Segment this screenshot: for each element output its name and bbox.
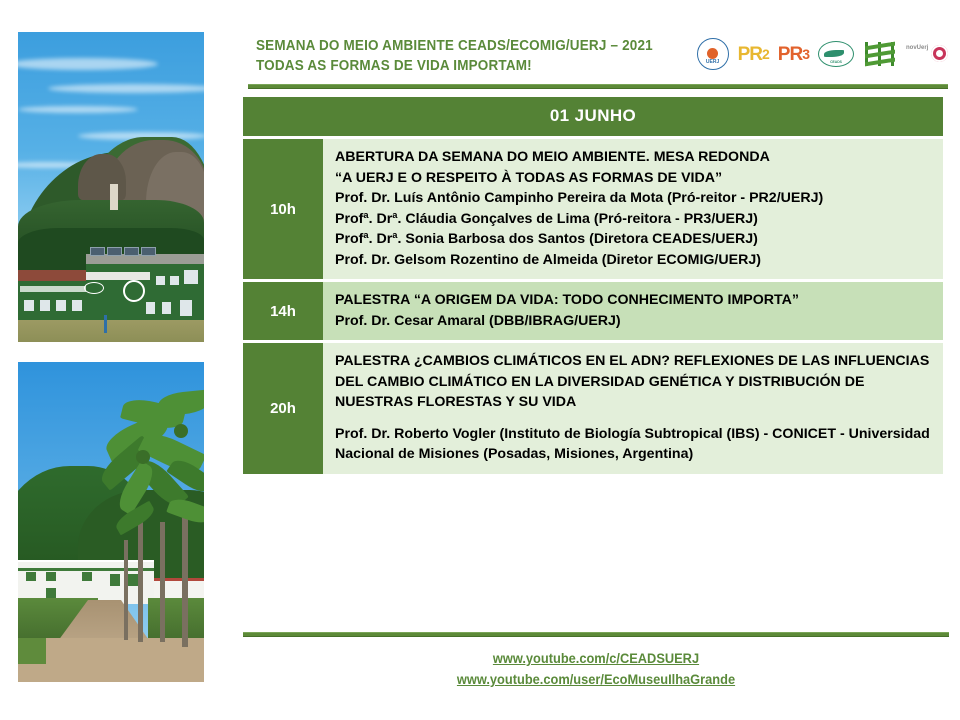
session-line: Profª. Drª. Cláudia Gonçalves de Lima (P…: [335, 209, 931, 230]
logo-strip: UERJ PR2 PR3 CEADS novUerj: [697, 36, 948, 72]
window: [170, 276, 179, 285]
building-emblem: [123, 280, 145, 302]
window: [24, 300, 34, 311]
session-cell: PALESTRA ¿CAMBIOS CLIMÁTICOS EN EL ADN? …: [323, 343, 943, 474]
fish-oval-logo: CEADS: [818, 41, 854, 67]
lawn: [148, 598, 204, 638]
fish-icon: [824, 50, 844, 57]
pole: [104, 315, 107, 333]
table-row: 20h PALESTRA ¿CAMBIOS CLIMÁTICOS EN EL A…: [243, 343, 943, 474]
palm-crown: [174, 424, 188, 438]
pr3-logo: PR3: [778, 39, 809, 69]
footer-links: www.youtube.com/c/CEADSUERJ www.youtube.…: [243, 648, 949, 690]
window: [56, 300, 66, 311]
schedule-table: 01 JUNHO 10h ABERTURA DA SEMANA DO MEIO …: [243, 97, 943, 474]
pr2-logo-superscript: 2: [762, 45, 769, 64]
window: [180, 300, 192, 316]
window: [162, 302, 171, 314]
table-row: 14h PALESTRA “A ORIGEM DA VIDA: TODO CON…: [243, 282, 943, 340]
session-cell: PALESTRA “A ORIGEM DA VIDA: TODO CONHECI…: [323, 282, 943, 340]
session-line: Profª. Drª. Sonia Barbosa dos Santos (Di…: [335, 229, 931, 250]
red-roof: [18, 270, 90, 281]
solar-panel: [141, 247, 156, 256]
palm-trunk: [182, 502, 188, 647]
session-line: Prof. Dr. Cesar Amaral (DBB/IBRAG/UERJ): [335, 311, 931, 332]
uerj-logo: UERJ: [697, 38, 729, 70]
pr2-logo-label: PR: [738, 45, 762, 64]
fish-logo-label: CEADS: [819, 60, 853, 64]
session-line: ABERTURA DA SEMANA DO MEIO AMBIENTE. MES…: [335, 147, 931, 168]
header-divider-rule: [248, 84, 948, 89]
time-cell: 10h: [243, 139, 323, 279]
photo-ceads-building: [18, 32, 204, 342]
photo-campus-palms: [18, 362, 204, 682]
novuerj-gear-logo: novUerj: [906, 41, 948, 67]
window: [82, 572, 92, 581]
solar-panel: [107, 247, 122, 256]
palm-trunk: [160, 522, 165, 642]
session-line: “A UERJ E O RESPEITO À TODAS AS FORMAS D…: [335, 168, 931, 189]
day-header: 01 JUNHO: [243, 97, 943, 136]
green-grid-logo: [863, 41, 897, 67]
pr3-logo-label: PR: [778, 45, 802, 64]
uerj-logo-label: UERJ: [706, 60, 719, 65]
window: [156, 276, 165, 285]
session-line: Prof. Dr. Roberto Vogler (Instituto de B…: [335, 424, 931, 465]
footer-divider-rule: [243, 632, 949, 637]
window: [46, 572, 56, 581]
palm-trunk: [124, 540, 128, 640]
window: [128, 574, 138, 586]
tower: [110, 184, 118, 210]
facade-band: [86, 272, 150, 280]
building-stripe: [18, 568, 154, 571]
palm-crown: [136, 450, 150, 464]
cloud-streak: [48, 84, 204, 93]
window: [110, 574, 120, 586]
palm-trunk: [138, 512, 143, 642]
table-row: 10h ABERTURA DA SEMANA DO MEIO AMBIENTE.…: [243, 139, 943, 279]
youtube-user-link[interactable]: www.youtube.com/user/EcoMuseuIlhaGrande: [261, 669, 932, 690]
session-line: Prof. Dr. Gelsom Rozentino de Almeida (D…: [335, 250, 931, 271]
pr3-logo-superscript: 3: [802, 45, 809, 64]
window: [40, 300, 50, 311]
building-emblem-oval: [84, 282, 104, 294]
window: [184, 270, 198, 284]
uerj-seal-burst-icon: [707, 48, 718, 59]
window: [26, 572, 36, 581]
session-line: Prof. Dr. Luís Antônio Campinho Pereira …: [335, 188, 931, 209]
session-cell: ABERTURA DA SEMANA DO MEIO AMBIENTE. MES…: [323, 139, 943, 279]
novuerj-logo-label: novUerj: [906, 46, 928, 52]
header-titles: SEMANA DO MEIO AMBIENTE CEADS/ECOMIG/UER…: [256, 36, 683, 76]
header-title-line2: TODAS AS FORMAS DE VIDA IMPORTAM!: [256, 56, 653, 76]
youtube-channel-link[interactable]: www.youtube.com/c/CEADSUERJ: [261, 648, 932, 669]
time-cell: 14h: [243, 282, 323, 340]
session-line: PALESTRA ¿CAMBIOS CLIMÁTICOS EN EL ADN? …: [335, 351, 931, 413]
window: [146, 302, 155, 314]
pr2-logo: PR2: [738, 39, 769, 69]
cloud-streak: [18, 106, 138, 113]
window: [72, 300, 82, 311]
gear-icon: [931, 45, 948, 62]
session-line: PALESTRA “A ORIGEM DA VIDA: TODO CONHECI…: [335, 290, 931, 311]
photo-column: [18, 32, 204, 682]
time-cell: 20h: [243, 343, 323, 474]
solar-panel: [90, 247, 105, 256]
poster-header: SEMANA DO MEIO AMBIENTE CEADS/ECOMIG/UER…: [248, 36, 948, 82]
ground: [18, 320, 204, 342]
rock-outcrop: [78, 154, 126, 200]
lawn-edge: [18, 638, 46, 664]
header-title-line1: SEMANA DO MEIO AMBIENTE CEADS/ECOMIG/UER…: [256, 36, 653, 56]
annex-sign: [20, 286, 86, 292]
solar-panel: [124, 247, 139, 256]
